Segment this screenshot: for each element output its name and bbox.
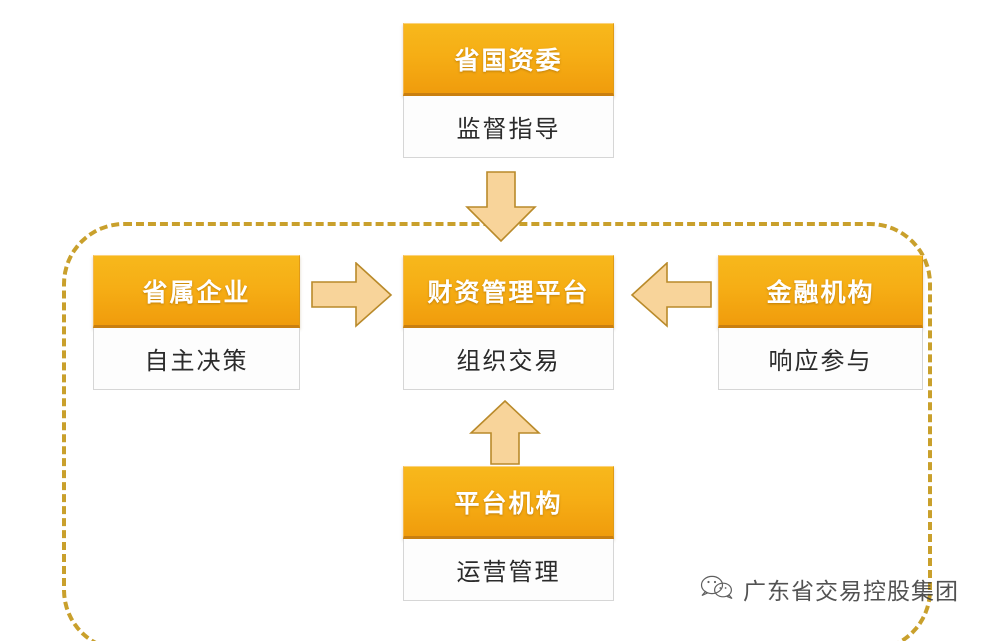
node-provincial-sasac[interactable]: 省国资委 监督指导 (403, 23, 614, 158)
node-header-label-center: 财资管理平台 (427, 273, 589, 309)
node-header-bottom: 平台机构 (403, 466, 614, 539)
node-body-left: 自主决策 (93, 328, 300, 390)
node-financial-institutions[interactable]: 金融机构 响应参与 (718, 255, 923, 390)
diagram-canvas: 省国资委 监督指导 省属企业 自主决策 财资管理平台 组织交易 (0, 0, 1001, 641)
node-treasury-management-platform[interactable]: 财资管理平台 组织交易 (403, 255, 614, 390)
wechat-icon (700, 574, 734, 604)
node-header-left: 省属企业 (93, 255, 300, 328)
node-body-right: 响应参与 (718, 328, 923, 390)
arrow-right-icon (311, 262, 393, 328)
node-platform-institution[interactable]: 平台机构 运营管理 (403, 466, 614, 601)
node-header-center: 财资管理平台 (403, 255, 614, 328)
arrow-down-icon (464, 171, 538, 243)
node-header-label-bottom: 平台机构 (454, 484, 562, 520)
arrow-up-icon (468, 400, 542, 466)
node-header-right: 金融机构 (718, 255, 923, 328)
node-header-label-top: 省国资委 (454, 41, 562, 77)
node-body-label-right: 响应参与 (769, 341, 873, 376)
node-body-bottom: 运营管理 (403, 539, 614, 601)
node-header-label-left: 省属企业 (142, 273, 250, 309)
node-body-top: 监督指导 (403, 96, 614, 158)
watermark: 广东省交易控股集团 (700, 572, 959, 606)
node-provincial-enterprises[interactable]: 省属企业 自主决策 (93, 255, 300, 390)
node-body-center: 组织交易 (403, 328, 614, 390)
node-body-label-center: 组织交易 (457, 341, 561, 376)
node-header-label-right: 金融机构 (766, 273, 874, 309)
node-header-top: 省国资委 (403, 23, 614, 96)
node-body-label-bottom: 运营管理 (457, 552, 561, 587)
arrow-left-icon (630, 262, 712, 328)
node-body-label-left: 自主决策 (145, 341, 249, 376)
watermark-text: 广东省交易控股集团 (743, 572, 959, 606)
node-body-label-top: 监督指导 (457, 109, 561, 144)
